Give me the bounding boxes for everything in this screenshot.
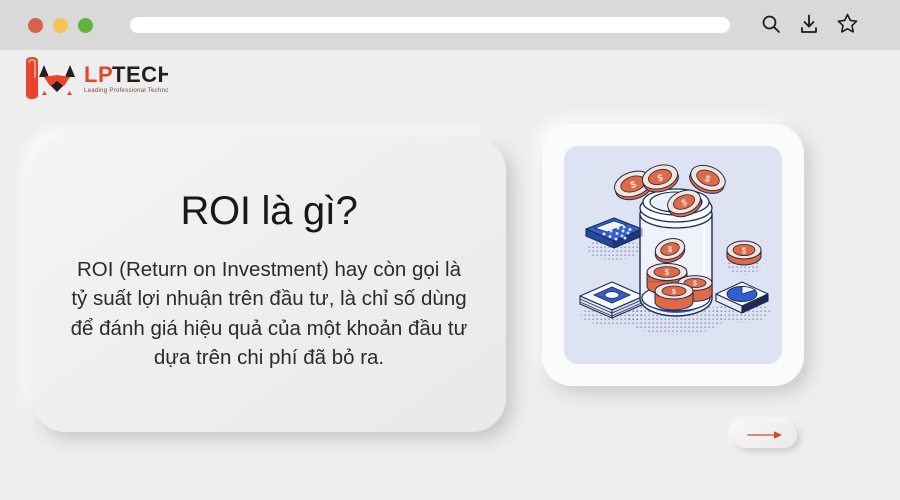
svg-text:$: $ xyxy=(668,245,673,254)
svg-text:$: $ xyxy=(742,247,747,256)
next-arrow-button[interactable] xyxy=(733,422,797,448)
address-bar-input[interactable] xyxy=(130,17,730,33)
svg-text:Leading Professional Technolog: Leading Professional Technology xyxy=(84,87,168,94)
svg-text:LP: LP xyxy=(84,62,113,87)
single-coin-object: $ xyxy=(727,241,761,275)
window-minimize-button[interactable] xyxy=(53,18,68,33)
svg-text:$: $ xyxy=(665,268,670,277)
window-close-button[interactable] xyxy=(28,18,43,33)
definition-paragraph: ROI (Return on Investment) hay còn gọi l… xyxy=(69,255,469,371)
page-title: ROI là gì? xyxy=(180,189,357,233)
savings-jar-illustration: $ $ xyxy=(564,146,782,364)
browser-chrome-bar xyxy=(0,0,900,50)
window-maximize-button[interactable] xyxy=(78,18,93,33)
illustration-card: $ $ xyxy=(542,124,804,386)
site-logo[interactable]: LP TECH Leading Professional Technology xyxy=(18,55,168,103)
window-traffic-lights xyxy=(28,18,93,33)
search-icon[interactable] xyxy=(761,14,781,34)
roi-definition-card: ROI là gì? ROI (Return on Investment) ha… xyxy=(32,137,506,432)
arrow-right-icon xyxy=(745,429,785,441)
svg-text:$: $ xyxy=(693,281,697,288)
download-icon[interactable] xyxy=(799,14,819,34)
browser-toolbar-icons xyxy=(761,13,858,34)
star-icon[interactable] xyxy=(837,13,858,34)
svg-text:TECH: TECH xyxy=(112,62,168,87)
